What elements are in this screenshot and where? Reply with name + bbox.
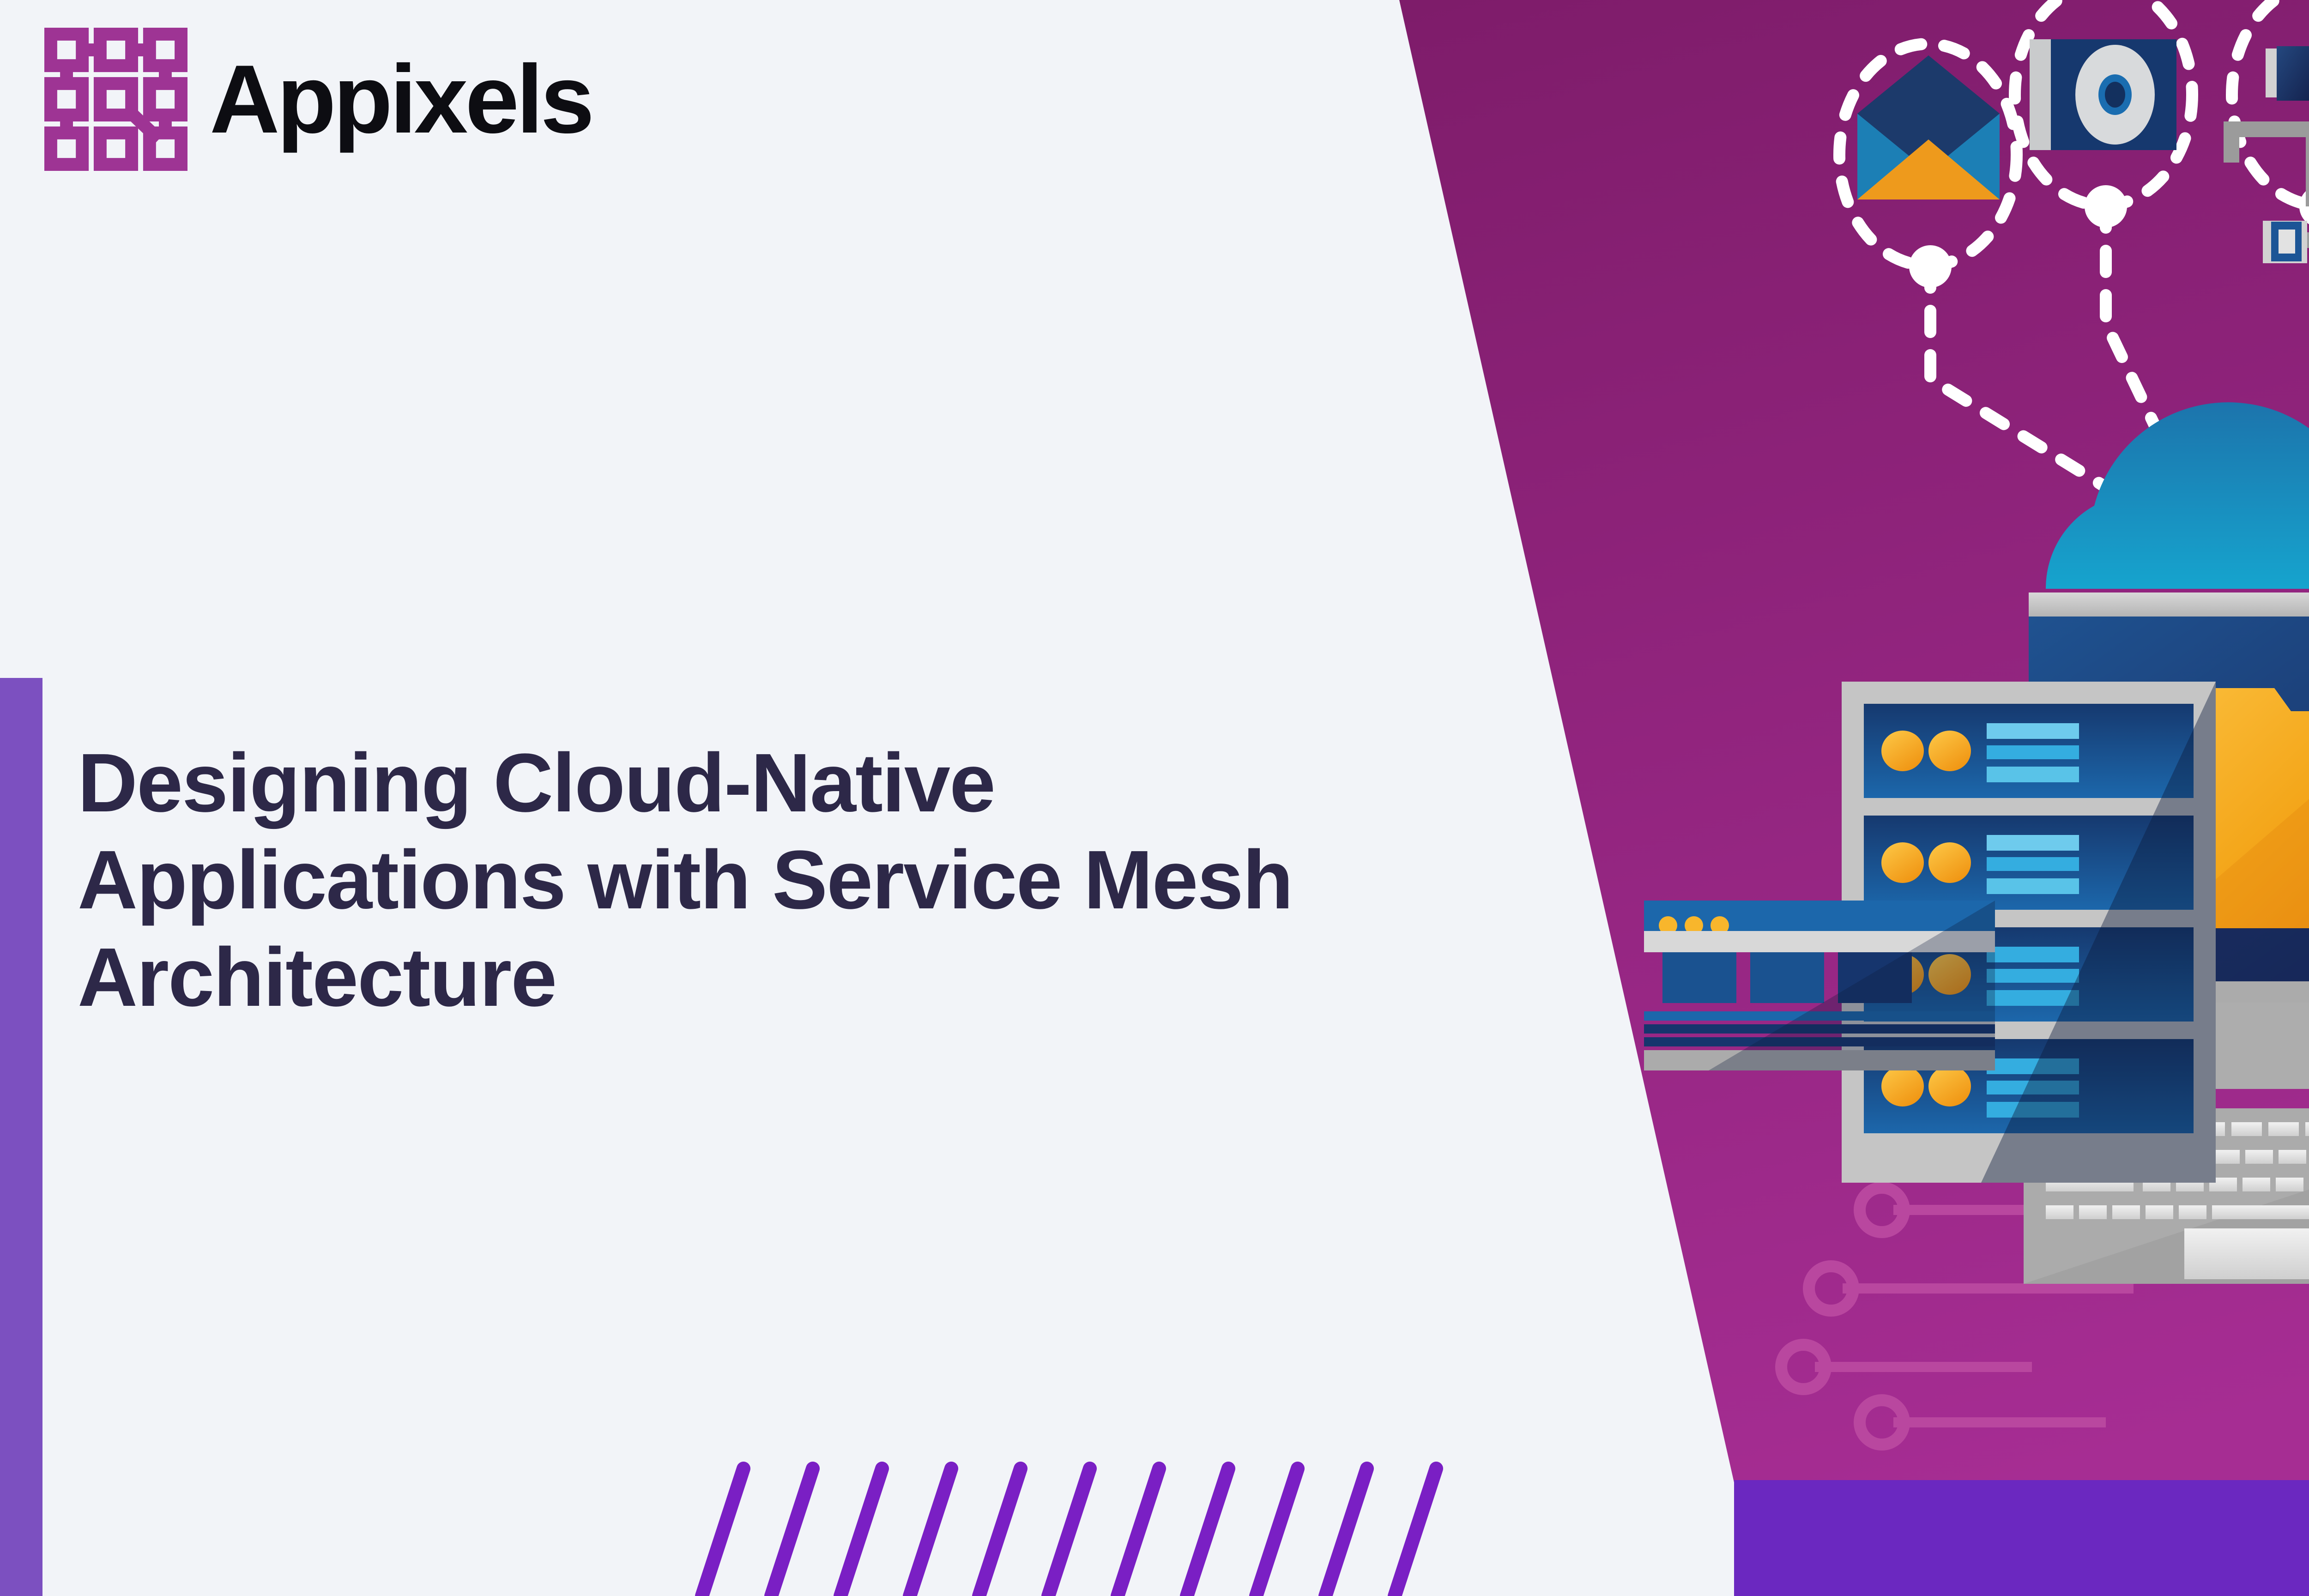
edge-server-icon (1644, 901, 1995, 1070)
brand-wordmark: Appixels (210, 51, 592, 148)
mesh-grid-logo-icon (44, 28, 187, 171)
banner-canvas: Appixels Designing Cloud-Native Applicat… (0, 0, 2309, 1596)
diagonal-stripe-pattern (693, 1450, 1570, 1596)
bottom-accent-band (1734, 1480, 2309, 1596)
left-accent-bar (0, 678, 42, 1596)
disc-media-icon (2030, 39, 2176, 150)
brand-lockup[interactable]: Appixels (44, 28, 592, 171)
page-title: Designing Cloud-Native Applications with… (78, 735, 1486, 1027)
